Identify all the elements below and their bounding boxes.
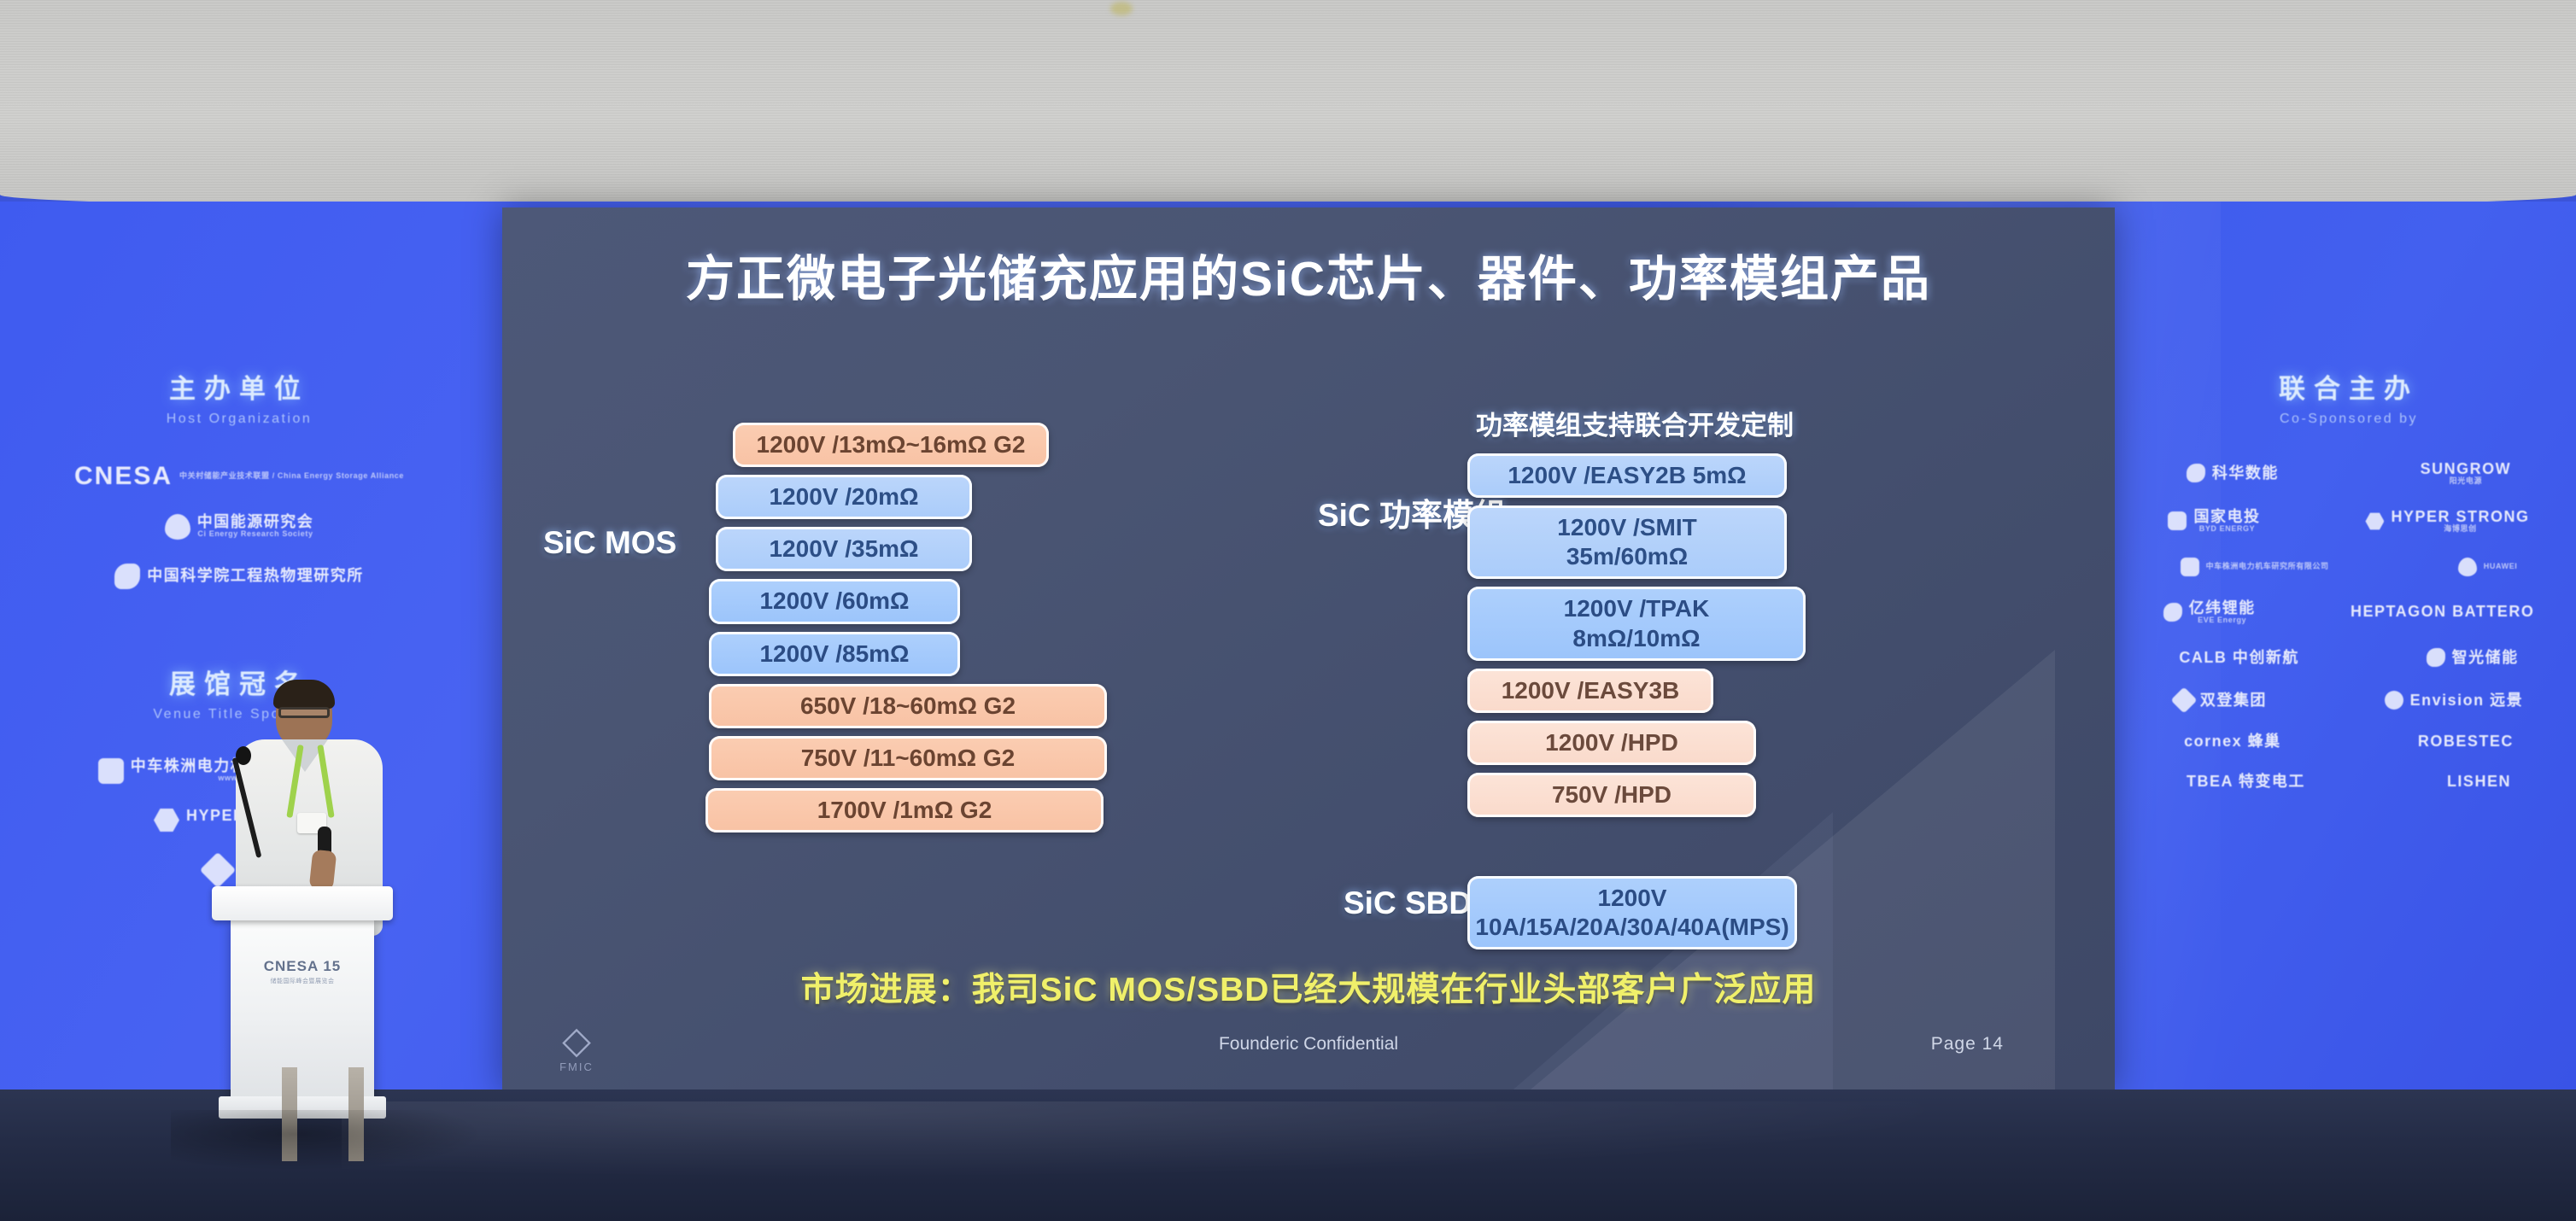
slide-title: 方正微电子光储充应用的SiC芯片、器件、功率模组产品 [502,240,2115,310]
logo-row: 亿纬锂能 EVE Energy HEPTAGON BATTERO [2127,600,2571,624]
logo-label: 国家电投 BYD ENERGY [2193,509,2260,533]
chip-sic-sbd[interactable]: 1200V 10A/15A/20A/30A/40A(MPS) [1467,876,1797,949]
podium-shadow [171,1110,478,1170]
logo-label: 亿纬锂能 EVE Energy [2189,600,2256,624]
logo-row: 中国能源研究会 Ci Energy Research Society [17,514,461,540]
sponsor-head-cn-cosponsor: 联合主办 [2127,367,2571,406]
podium-plate: CNESA 15 储能国际峰会暨展览会 [249,958,355,987]
logo-row: 中车株洲电力机车研究所有限公司 HUAWEI [2127,558,2571,576]
chip-sic-mos[interactable]: 1200V /13mΩ~16mΩ G2 [733,423,1049,467]
podium: CNESA 15 储能国际峰会暨展览会 [212,886,393,1142]
logo-envision: Envision 远景 [2385,691,2524,710]
logo-calb: CALB 中创新航 [2179,650,2299,666]
ceiling [0,0,2576,213]
chip-sic-mos[interactable]: 650V /18~60mΩ G2 [709,684,1107,728]
confidential-notice: Founderic Confidential [502,1034,2115,1054]
podium-top [212,886,393,920]
logo-shoto: 双登集团 [2175,691,2267,710]
logo-label: cornex 蜂巢 [2184,733,2281,750]
swoosh-icon [2163,603,2182,622]
logo-label: TBEA 特变电工 [2187,774,2305,790]
flower-icon [2458,558,2477,576]
logo-row: CALB 中创新航 智光储能 [2127,648,2571,667]
sic-sbd-label: SiC SBD [1344,885,1472,921]
sic-module-chip-stack: 1200V /EASY2B 5mΩ 1200V /SMIT 35m/60mΩ 1… [1467,453,1809,817]
logo-row: 双登集团 Envision 远景 [2127,691,2571,710]
glasses-icon [278,707,330,718]
logo-zhiguang-energy: 智光储能 [2427,648,2519,667]
logo-row: cornex 蜂巢 ROBESTEC [2127,733,2571,750]
square-icon [98,758,124,784]
swoosh-icon [114,564,140,589]
logo-huawei: HUAWEI [2458,558,2518,576]
logo-robestec: ROBESTEC [2418,733,2514,750]
logo-byd-energy: 国家电投 BYD ENERGY [2168,509,2260,533]
chip-sic-module[interactable]: 1200V /SMIT 35m/60mΩ [1467,505,1787,579]
chip-sic-module[interactable]: 1200V /HPD [1467,721,1756,765]
lotus-icon [165,514,190,540]
logo-label: 双登集团 [2200,692,2267,709]
logo-kehua: 科华数能 [2187,464,2279,482]
swoosh-icon [2427,648,2445,667]
chip-sic-mos[interactable]: 1200V /60mΩ [709,579,960,623]
chip-sic-module[interactable]: 750V /HPD [1467,773,1756,817]
logo-row: 中国科学院工程热物理研究所 [17,564,461,589]
logo-eve-energy: 亿纬锂能 EVE Energy [2163,600,2256,624]
logo-label: 中车株洲电力机车研究所有限公司 [2206,563,2329,570]
hexagon-icon [154,808,179,833]
logo-label: SUNGROW 阳光电源 [2421,461,2512,485]
logo-cas-engineering-thermophysics: 中国科学院工程热物理研究所 [114,564,364,589]
logo-label: CALB 中创新航 [2179,650,2299,666]
logo-battero: HEPTAGON BATTERO [2351,604,2534,620]
logo-label: 智光储能 [2452,650,2519,666]
logo-cnesa: CNESA 中关村储能产业技术联盟 / China Energy Storage… [74,463,404,490]
logo-energy-research-society: 中国能源研究会 Ci Energy Research Society [165,514,314,540]
chip-sic-module[interactable]: 1200V /TPAK 8mΩ/10mΩ [1467,587,1806,660]
conference-stage-scene: 主办单位 Host Organization CNESA 中关村储能产业技术联盟… [0,0,2576,1221]
logo-row: TBEA 特变电工 LISHEN [2127,774,2571,790]
chip-sic-mos[interactable]: 1200V /85mΩ [709,632,960,676]
market-progress-line: 市场进展：我司SiC MOS/SBD已经大规模在行业头部客户广泛应用 [502,963,2115,1011]
presentation-slide: 方正微电子光储充应用的SiC芯片、器件、功率模组产品 SiC MOS 1200V… [502,207,2115,1094]
swoosh-icon [2187,464,2205,482]
logo-sublabel: 中关村储能产业技术联盟 / China Energy Storage Allia… [179,472,404,480]
chip-sic-module[interactable]: 1200V /EASY3B [1467,669,1713,713]
logo-label: 科华数能 [2212,465,2279,482]
chip-sic-mos[interactable]: 1200V /20mΩ [716,475,972,519]
speaker-hand [309,850,337,891]
slide-footer: ◇ FMIC Founderic Confidential Page 14 [502,1015,2115,1077]
page-number: Page 14 [1931,1034,2004,1054]
hexagon-icon [2365,511,2384,530]
logo-label: 中国能源研究会 Ci Energy Research Society [197,514,314,538]
logo-label: ROBESTEC [2418,733,2514,750]
logo-label: HUAWEI [2484,563,2518,570]
logo-label: Envision 远景 [2410,692,2524,709]
logo-label: CNESA [74,463,173,490]
square-icon [2181,558,2199,576]
logo-tbea: TBEA 特变电工 [2187,774,2305,790]
logo-label: HYPER STRONG 海博思创 [2391,509,2529,533]
logo-sungrow: SUNGROW 阳光电源 [2421,461,2512,485]
sponsor-head-en-cosponsor: Co-Sponsored by [2127,412,2571,427]
logo-lishen: LISHEN [2447,774,2511,790]
sponsor-head-en-host: Host Organization [17,412,461,427]
microphone-icon [236,746,251,765]
logo-row: CNESA 中关村储能产业技术联盟 / China Energy Storage… [17,463,461,490]
sic-mos-chip-stack: 1200V /13mΩ~16mΩ G2 1200V /20mΩ 1200V /3… [656,423,1049,832]
speaker-hair [273,680,335,709]
chip-sic-mos[interactable]: 1700V /1mΩ G2 [705,788,1104,832]
logo-row: 国家电投 BYD ENERGY HYPER STRONG 海博思创 [2127,509,2571,533]
ceiling-light [1110,2,1133,15]
chip-sic-module[interactable]: 1200V /EASY2B 5mΩ [1467,453,1787,498]
logo-label: LISHEN [2447,774,2511,790]
diamond-icon [2170,686,2197,713]
circle-icon [2385,691,2403,710]
logo-crrc: 中车株洲电力机车研究所有限公司 [2181,558,2329,576]
square-icon [2168,511,2187,530]
chip-sic-mos[interactable]: 750V /11~60mΩ G2 [709,736,1107,780]
logo-hyper-strong: HYPER STRONG 海博思创 [2365,509,2529,533]
module-group-head: 功率模组支持联合开发定制 [1476,404,1794,442]
logo-cornex: cornex 蜂巢 [2184,733,2281,750]
chip-sic-mos[interactable]: 1200V /35mΩ [716,527,972,571]
logo-row: 科华数能 SUNGROW 阳光电源 [2127,461,2571,485]
logo-label: HEPTAGON BATTERO [2351,604,2534,620]
sponsor-head-cn-host: 主办单位 [17,367,461,406]
sponsor-panel-right: 联合主办 Co-Sponsored by 科华数能 SUNGROW 阳光电源 [2127,367,2571,814]
sponsor-group-host: 主办单位 Host Organization CNESA 中关村储能产业技术联盟… [17,367,461,589]
logo-label: 中国科学院工程热物理研究所 [147,568,364,584]
